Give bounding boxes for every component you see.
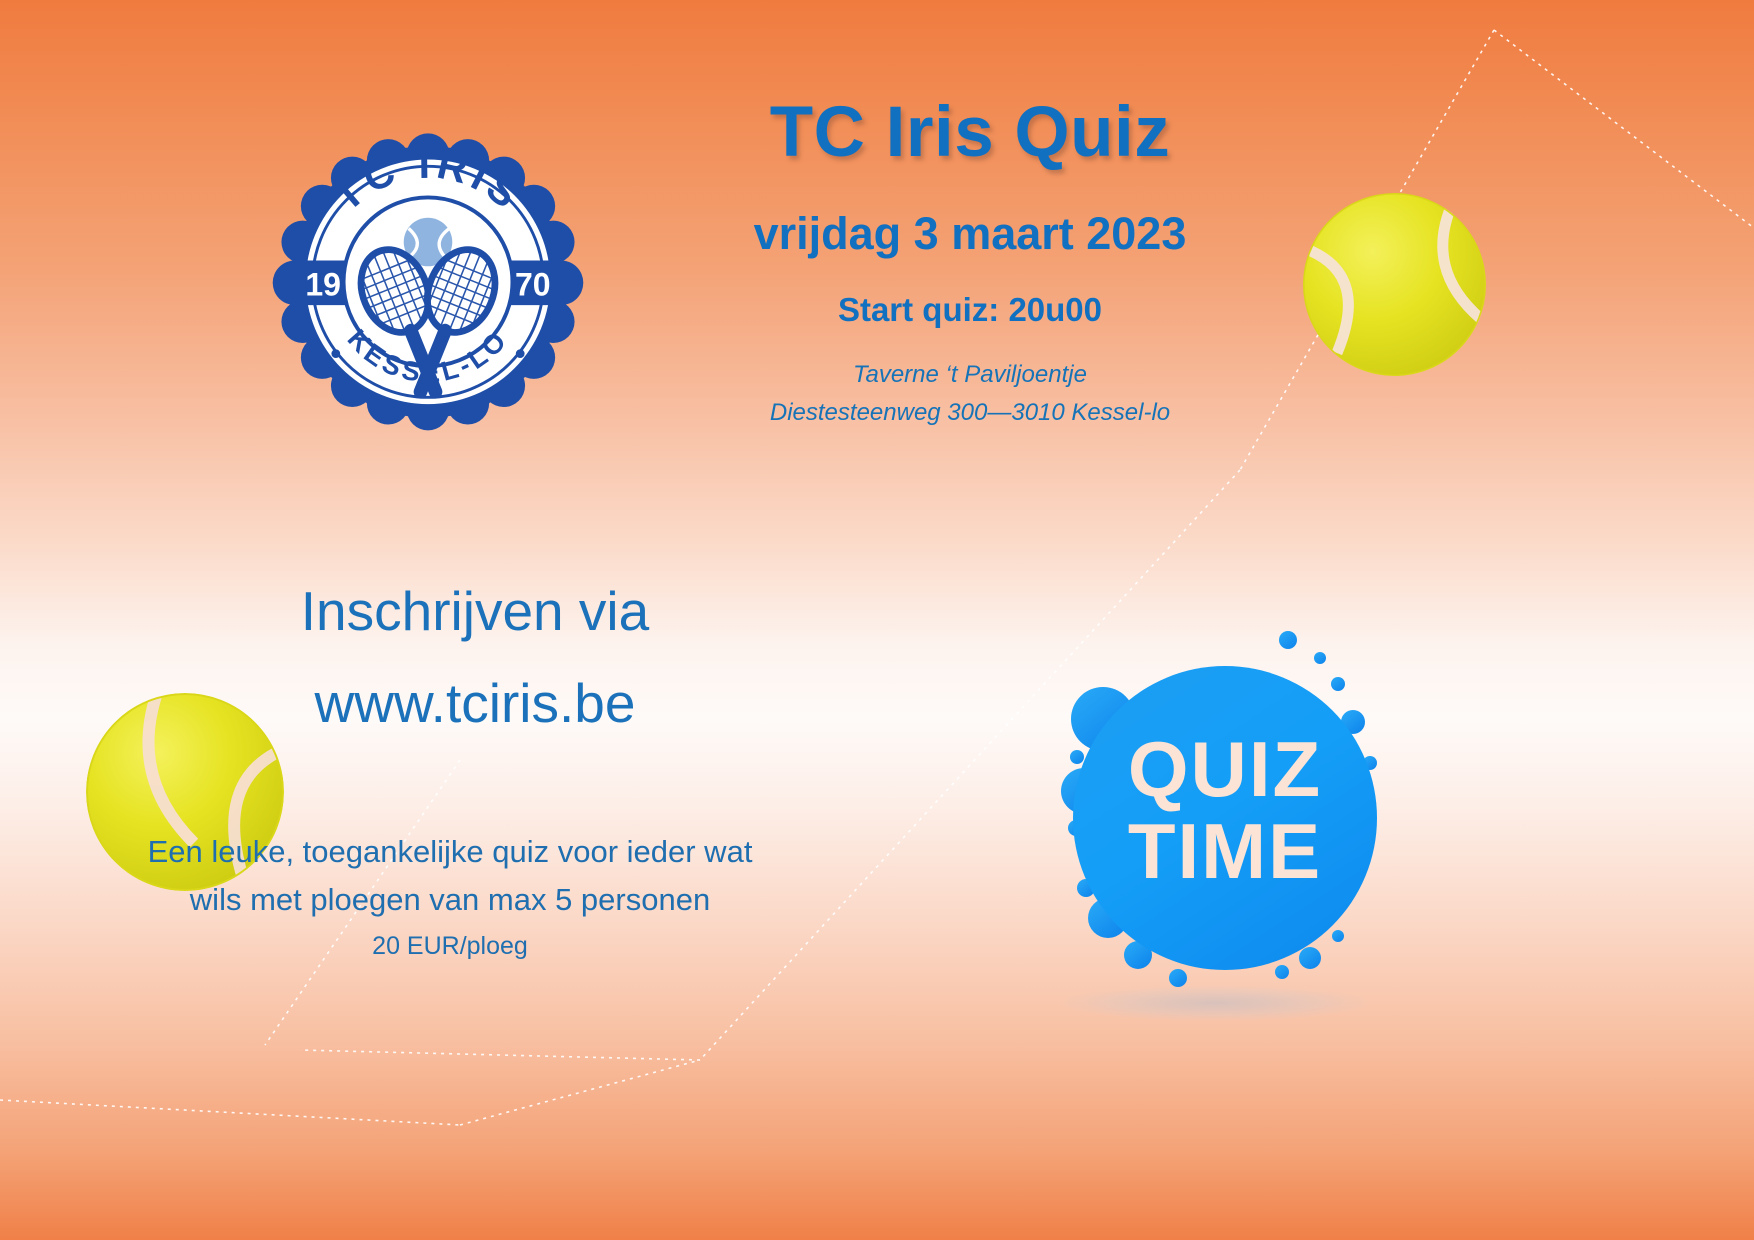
quiz-time-line-2: TIME bbox=[1128, 807, 1322, 895]
quiz-description-line-2: wils met ploegen van max 5 personen bbox=[110, 876, 790, 924]
logo-year-left: 19 bbox=[305, 266, 341, 302]
quiz-description-line-1: Een leuke, toegankelijke quiz voor ieder… bbox=[110, 828, 790, 876]
quiz-poster: 19 70 bbox=[0, 0, 1754, 1240]
signup-url[interactable]: www.tciris.be bbox=[190, 657, 760, 749]
quiz-time-line-1: QUIZ bbox=[1128, 725, 1322, 813]
event-date: vrijdag 3 maart 2023 bbox=[620, 209, 1320, 259]
tennis-ball-top-right bbox=[1303, 193, 1486, 376]
quiz-time-badge: QUIZ TIME bbox=[1020, 600, 1410, 1020]
club-logo: 19 70 bbox=[263, 106, 593, 446]
event-start-time: Start quiz: 20u00 bbox=[620, 292, 1320, 328]
venue-block: Taverne ‘t Paviljoentje Diestesteenweg 3… bbox=[620, 356, 1320, 430]
venue-name: Taverne ‘t Paviljoentje bbox=[620, 356, 1320, 393]
signup-block: Inschrijven via www.tciris.be bbox=[190, 565, 760, 750]
page-title: TC Iris Quiz bbox=[620, 96, 1320, 171]
logo-year-right: 70 bbox=[515, 266, 551, 302]
venue-address: Diestesteenweg 300—3010 Kessel-lo bbox=[620, 394, 1320, 431]
quiz-description: Een leuke, toegankelijke quiz voor ieder… bbox=[110, 828, 790, 924]
signup-label: Inschrijven via bbox=[190, 565, 760, 657]
header-text-block: TC Iris Quiz vrijdag 3 maart 2023 Start … bbox=[620, 96, 1320, 431]
price-label: 20 EUR/ploeg bbox=[110, 932, 790, 961]
